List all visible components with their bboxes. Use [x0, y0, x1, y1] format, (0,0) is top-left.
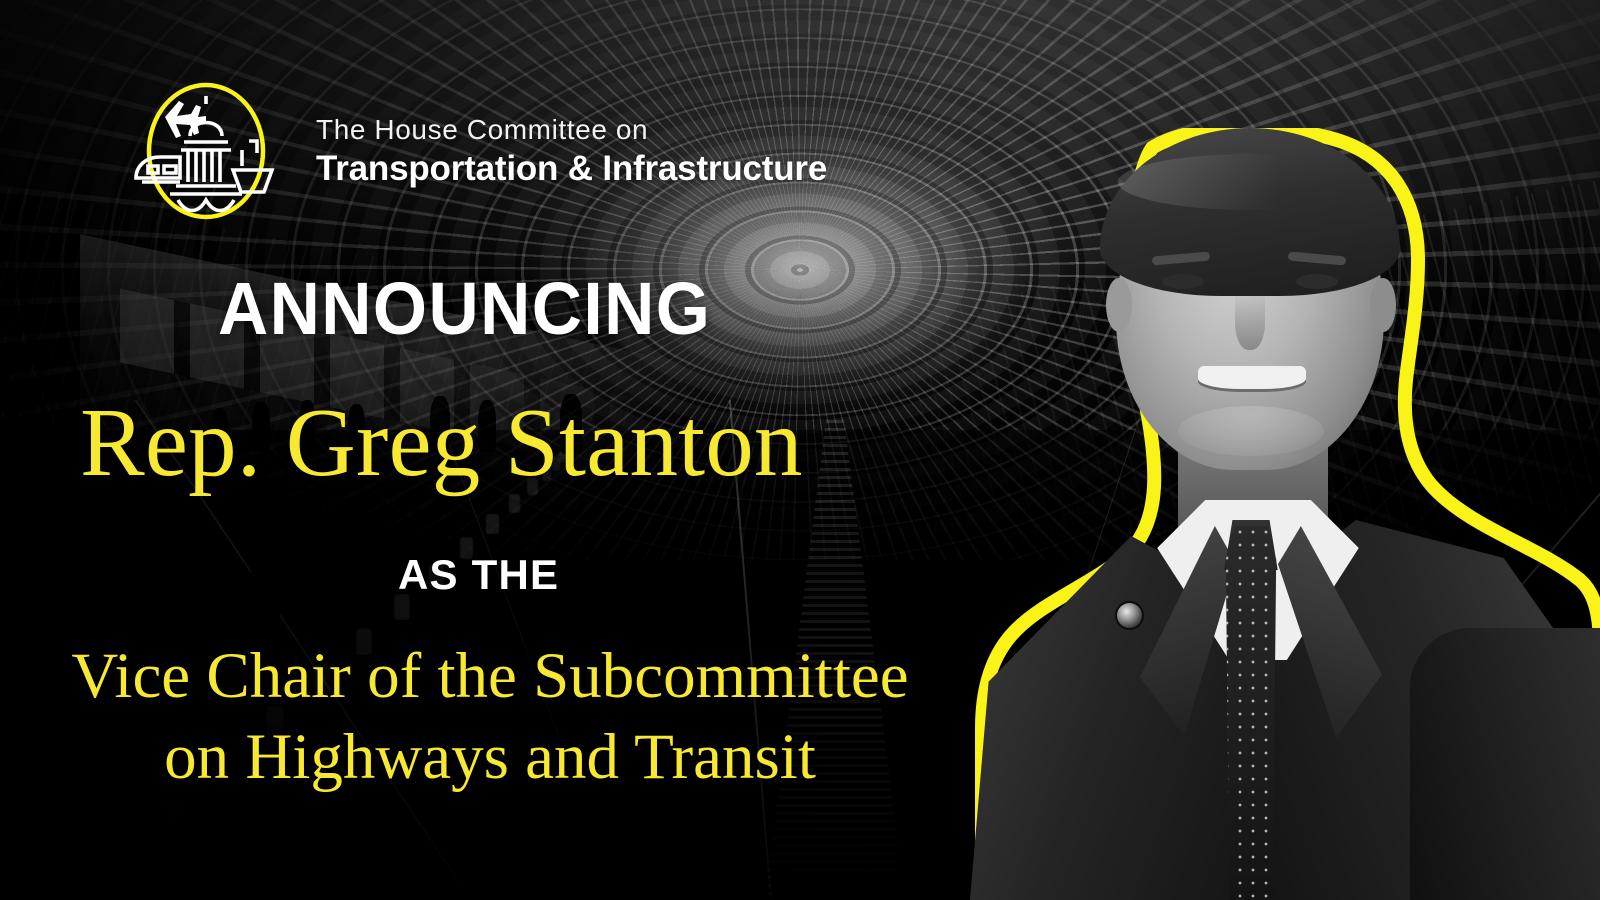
hair — [1100, 128, 1400, 296]
eye-right — [1296, 274, 1338, 289]
logo-line-2: Transportation & Infrastructure — [316, 151, 827, 186]
role-title: Vice Chair of the Subcommittee on Highwa… — [0, 636, 980, 797]
congressional-lapel-pin-icon — [1117, 603, 1142, 628]
announcement-graphic: The House Committee on Transportation & … — [0, 0, 1600, 900]
logo-line-1: The House Committee on — [316, 116, 827, 144]
portrait-photo — [940, 128, 1600, 900]
announcing-eyebrow: ANNOUNCING — [218, 272, 711, 346]
train-icon — [136, 157, 180, 182]
chin — [1178, 406, 1324, 456]
eye-left — [1162, 274, 1204, 289]
waves-icon — [178, 200, 234, 211]
representative-name: Rep. Greg Stanton — [80, 392, 803, 494]
ear-left — [1106, 278, 1132, 332]
necktie — [1221, 526, 1281, 900]
smile — [1198, 366, 1306, 392]
shoulder-right — [1410, 628, 1600, 900]
as-the-connector: AS THE — [398, 554, 559, 596]
logo-mark — [118, 78, 294, 224]
role-line-1: Vice Chair of the Subcommittee — [0, 636, 980, 717]
ship-icon — [233, 141, 272, 192]
committee-logo: The House Committee on Transportation & … — [118, 78, 827, 224]
nose — [1235, 290, 1265, 350]
airplane-icon — [165, 101, 206, 138]
logo-wordmark: The House Committee on Transportation & … — [316, 116, 827, 186]
portrait — [940, 128, 1600, 900]
role-line-2: on Highways and Transit — [0, 717, 980, 798]
ear-right — [1370, 278, 1396, 332]
